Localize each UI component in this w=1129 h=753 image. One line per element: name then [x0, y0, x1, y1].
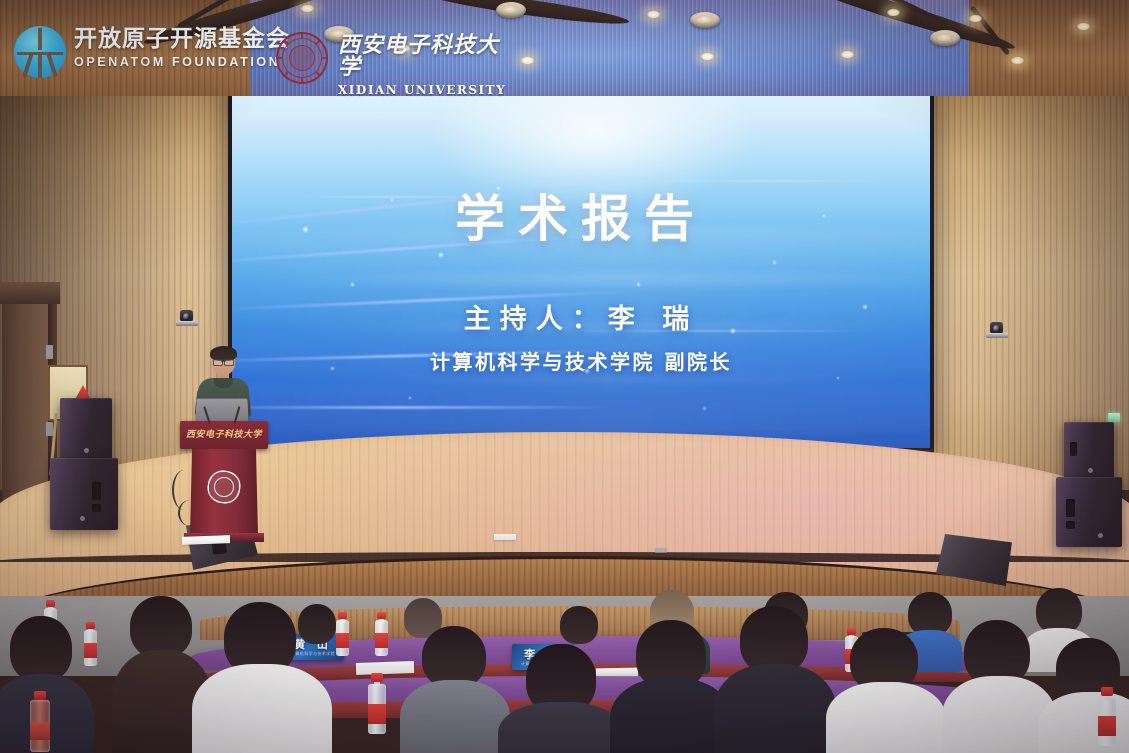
- ceiling-downlight: [1076, 22, 1091, 31]
- lecture-hall-photo: 学术报告 主持人：李 瑞 计算机科学与技术学院 副院长: [0, 0, 1129, 753]
- audience-person: [500, 644, 620, 753]
- xidian-cn-name: 西安电子科技大学: [338, 34, 520, 78]
- audience-person: [196, 602, 324, 753]
- podium-laptop: [195, 399, 248, 422]
- screen-bokeh: [772, 260, 777, 265]
- ceiling-downlight: [700, 52, 715, 61]
- audience-person: [720, 606, 828, 753]
- screen-subtitle: 计算机科学与技术学院 副院长: [232, 352, 930, 372]
- door-hinge-icon: [46, 345, 53, 359]
- water-bottle: [375, 612, 388, 656]
- openatom-logo-icon: [14, 26, 66, 78]
- audience-person: [830, 628, 940, 753]
- ceiling-wood-right: [969, 0, 1129, 96]
- podium-emblem-icon: [208, 471, 240, 503]
- wall-camera-icon: [176, 310, 198, 326]
- paper-on-stage: [494, 534, 516, 540]
- screen-bokeh: [636, 282, 641, 287]
- cable: [178, 500, 202, 526]
- glasses-icon: [213, 359, 234, 364]
- screen-host-line: 主持人：李 瑞: [232, 306, 930, 333]
- xidian-en-name: XIDIAN UNIVERSITY: [338, 84, 520, 96]
- ceiling-downlight: [840, 50, 855, 59]
- pa-subwoofer-left: [50, 458, 118, 530]
- paper-on-stage: [182, 535, 230, 545]
- screen-title: 学术报告: [232, 194, 930, 244]
- pa-speaker-top-left: [60, 398, 112, 460]
- exit-sign-icon: [1108, 413, 1120, 422]
- pa-subwoofer-right: [1056, 477, 1122, 547]
- openatom-cn-name: 开放原子开源基金会: [74, 28, 290, 51]
- door-header: [0, 282, 60, 304]
- audience-person: [120, 596, 202, 753]
- screen-bokeh: [836, 376, 840, 380]
- screen-bokeh: [408, 396, 412, 400]
- water-bottle: [1098, 686, 1116, 746]
- xidian-text: 西安电子科技大学 XIDIAN UNIVERSITY: [338, 34, 520, 96]
- audience-person: [406, 626, 502, 753]
- openatom-en-name: OPENATOM FOUNDATION: [74, 56, 290, 69]
- xidian-emblem-icon: [276, 32, 328, 84]
- ceiling-downlight: [520, 56, 535, 65]
- screen-bokeh: [350, 282, 355, 287]
- overlay-logo-bar: 开放原子开源基金会 OPENATOM FOUNDATION 西安电子科技大学 X…: [0, 14, 520, 76]
- podium-engraved-text: 西安电子科技大学: [180, 427, 268, 440]
- ceiling-downlight: [646, 10, 661, 19]
- ceiling-downlight: [300, 4, 315, 13]
- screen-streak: [652, 180, 892, 182]
- screen-bokeh: [438, 252, 444, 258]
- screen-bokeh: [702, 406, 707, 411]
- screen-light-ray: [232, 406, 609, 409]
- ceiling-spotlight: [930, 30, 960, 46]
- water-bottle: [30, 690, 50, 752]
- ceiling-downlight: [1010, 56, 1025, 65]
- tape-marker: [655, 548, 667, 553]
- ceiling-downlight: [886, 8, 901, 17]
- ceiling-spotlight: [690, 12, 720, 28]
- pa-speaker-top-right: [1064, 422, 1114, 480]
- audience-person: [614, 620, 726, 753]
- wall-camera-icon: [986, 322, 1008, 338]
- ceiling-downlight: [968, 14, 983, 23]
- led-screen: 学术报告 主持人：李 瑞 计算机科学与技术学院 副院长: [232, 76, 930, 448]
- water-bottle: [368, 672, 386, 734]
- audience-person: [946, 620, 1050, 753]
- openatom-text: 开放原子开源基金会 OPENATOM FOUNDATION: [74, 28, 290, 69]
